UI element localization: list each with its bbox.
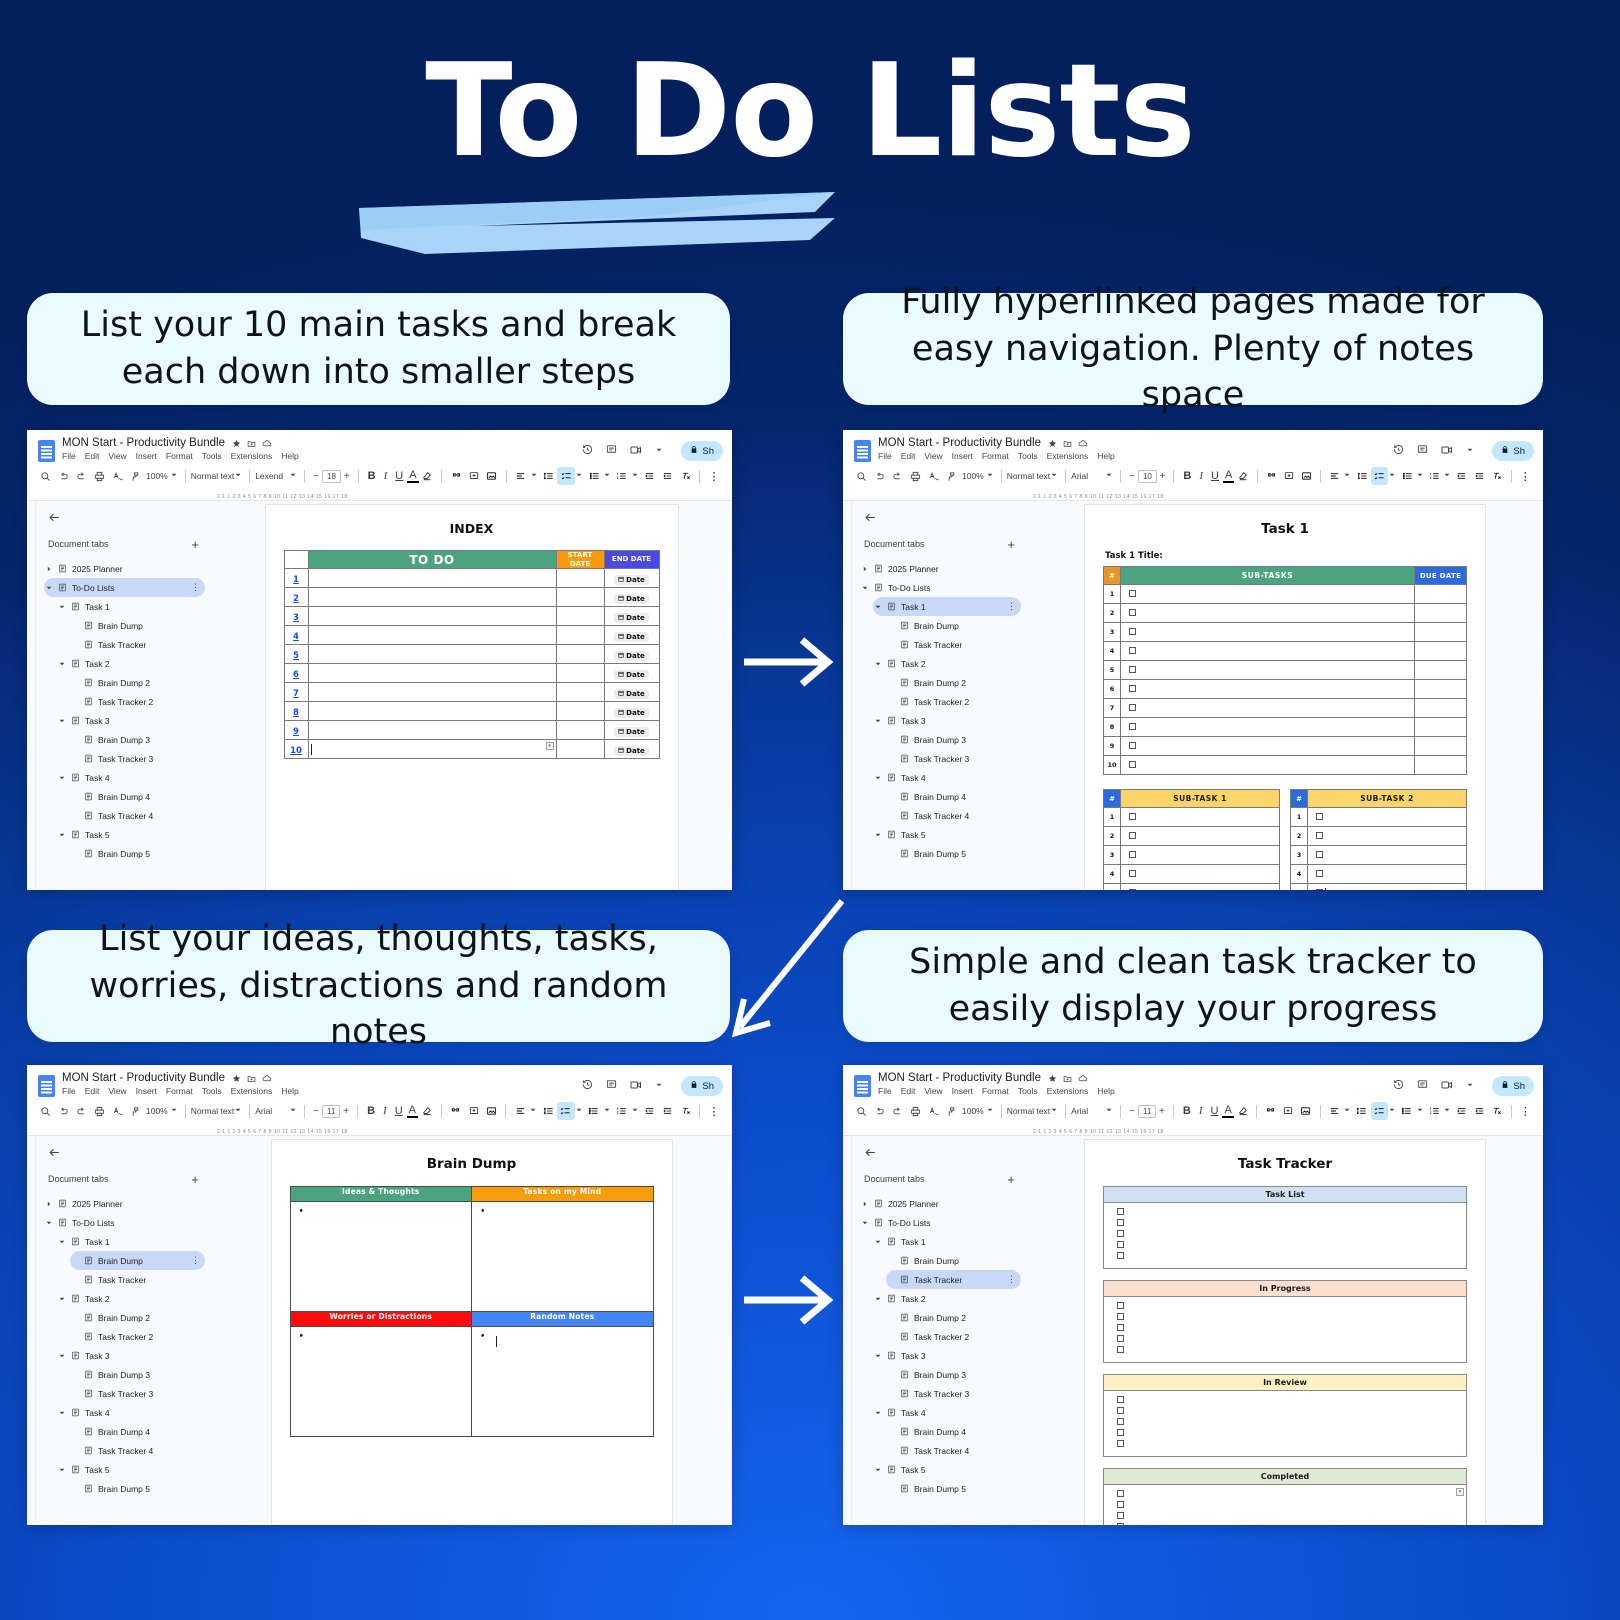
checkbox[interactable] (1117, 1501, 1124, 1508)
zoom-level[interactable]: 100% (144, 471, 170, 481)
document-tab-item[interactable]: Brain Dump 2 (70, 1308, 205, 1327)
subtask-table[interactable]: # SUB-TASK 2 1 2 3 4 5 (1290, 789, 1467, 890)
checkbox[interactable] (1117, 1407, 1124, 1414)
line-spacing-icon[interactable] (1353, 467, 1370, 485)
table-row[interactable]: 2 Date (284, 588, 659, 607)
insert-image-icon[interactable] (483, 1102, 501, 1120)
paragraph-style-select[interactable]: Normal text (1007, 1106, 1050, 1116)
checkbox[interactable] (1117, 1335, 1124, 1342)
checklist-icon[interactable] (1371, 1102, 1388, 1120)
version-history-icon[interactable] (582, 1077, 593, 1095)
increase-font-size-button[interactable]: + (340, 1106, 352, 1117)
redo-icon[interactable] (72, 467, 90, 485)
text-color-button[interactable]: A (407, 1105, 418, 1118)
subtask-cell[interactable] (1121, 756, 1415, 775)
clear-formatting-icon[interactable] (1488, 1102, 1505, 1120)
checkbox[interactable] (1129, 704, 1136, 711)
row-number-cell[interactable]: 7 (284, 683, 308, 702)
todo-cell[interactable] (308, 721, 556, 740)
chevron-right-icon[interactable] (44, 566, 53, 572)
underline-button[interactable]: U (391, 1105, 407, 1117)
menu-extensions[interactable]: Extensions (1047, 451, 1089, 461)
subtask-cell[interactable] (1308, 846, 1467, 865)
font-size-input[interactable]: 10 (1138, 470, 1157, 483)
checkbox[interactable] (1129, 851, 1136, 858)
paint-format-icon[interactable] (942, 1102, 960, 1120)
decrease-indent-icon[interactable] (641, 467, 659, 485)
menu-extensions[interactable]: Extensions (1047, 1086, 1089, 1096)
start-date-cell[interactable] (556, 683, 604, 702)
highlight-color-icon[interactable] (418, 1102, 436, 1120)
insert-link-icon[interactable] (447, 1102, 465, 1120)
menu-edit[interactable]: Edit (85, 1086, 100, 1096)
chevron-down-icon[interactable] (656, 447, 662, 455)
document-tab-item[interactable]: Task Tracker 4 (886, 806, 1021, 825)
chevron-down-icon[interactable] (290, 1107, 296, 1115)
clear-formatting-icon[interactable] (676, 1102, 694, 1120)
menu-view[interactable]: View (108, 451, 126, 461)
increase-indent-icon[interactable] (659, 467, 677, 485)
chevron-down-icon[interactable] (1444, 1107, 1450, 1115)
end-date-cell[interactable]: Date (604, 664, 659, 683)
document-tab-item[interactable]: Task 5 (57, 825, 205, 844)
due-date-cell[interactable] (1415, 585, 1467, 604)
menu-file[interactable]: File (62, 1086, 76, 1096)
subtask-cell[interactable] (1121, 642, 1415, 661)
chevron-down-icon[interactable] (873, 1296, 882, 1302)
document-tab-item[interactable]: Brain Dump ⋮ (70, 1251, 205, 1270)
tracker-section-body[interactable] (1104, 1391, 1466, 1456)
menu-file[interactable]: File (878, 451, 892, 461)
chevron-down-icon[interactable] (873, 661, 882, 667)
date-chip[interactable]: Date (614, 746, 649, 756)
insert-link-icon[interactable] (1262, 1102, 1279, 1120)
checkbox[interactable] (1117, 1346, 1124, 1353)
menu-help[interactable]: Help (1097, 1086, 1114, 1096)
checkbox[interactable] (1117, 1512, 1124, 1519)
row-number-cell[interactable]: 2 (284, 588, 308, 607)
more-options-icon[interactable]: ⋮ (1517, 1102, 1534, 1120)
subtask-cell[interactable] (1121, 865, 1280, 884)
subtask-cell[interactable] (1121, 808, 1280, 827)
italic-button[interactable]: I (1195, 1105, 1207, 1117)
checkbox[interactable] (1117, 1490, 1124, 1497)
document-tab-item[interactable]: Task 4 (873, 768, 1021, 787)
insert-image-icon[interactable] (1298, 467, 1315, 485)
document-tab-item[interactable]: Task Tracker (886, 635, 1021, 654)
checkbox[interactable] (1129, 628, 1136, 635)
zoom-level[interactable]: 100% (960, 1106, 986, 1116)
due-date-cell[interactable] (1415, 642, 1467, 661)
decrease-font-size-button[interactable]: − (1126, 471, 1138, 482)
table-row[interactable]: 3 (1104, 623, 1467, 642)
align-icon[interactable] (512, 467, 530, 485)
document-tab-item[interactable]: To-Do Lists ⋮ (44, 578, 205, 597)
underline-button[interactable]: U (391, 470, 407, 482)
document-tab-item[interactable]: Brain Dump 3 (886, 730, 1021, 749)
font-size-input[interactable]: 18 (322, 470, 341, 483)
chevron-down-icon[interactable] (57, 661, 66, 667)
menu-edit[interactable]: Edit (85, 451, 100, 461)
date-chip[interactable]: Date (614, 594, 649, 604)
menu-edit[interactable]: Edit (901, 1086, 916, 1096)
underline-button[interactable]: U (1207, 470, 1223, 482)
add-tab-button[interactable]: + (191, 1175, 199, 1184)
chevron-down-icon[interactable] (57, 1239, 66, 1245)
document-tab-item[interactable]: Brain Dump 2 (886, 673, 1021, 692)
document-page[interactable]: Task 1 Task 1 Title: # SUB-TASKS DUE DAT… (1085, 505, 1485, 890)
chevron-down-icon[interactable] (1389, 1107, 1395, 1115)
checkbox[interactable] (1117, 1208, 1124, 1215)
subtask-table-wrap[interactable]: # SUB-TASK 1 1 2 3 4 5 (1103, 789, 1280, 890)
chevron-down-icon[interactable] (235, 472, 241, 480)
table-row[interactable]: 2 (1291, 827, 1467, 846)
chevron-down-icon[interactable] (576, 472, 582, 480)
due-date-cell[interactable] (1415, 680, 1467, 699)
checkbox[interactable] (1316, 889, 1323, 890)
start-date-cell[interactable] (556, 664, 604, 683)
chevron-down-icon[interactable] (57, 1467, 66, 1473)
document-tab-item[interactable]: Task 4 (873, 1403, 1021, 1422)
screenshot-panel-index[interactable]: MON Start - Productivity Bundle FileEdit… (27, 430, 732, 890)
comment-icon[interactable] (1417, 442, 1428, 460)
document-tab-item[interactable]: Task Tracker 2 (886, 1327, 1021, 1346)
todo-cell[interactable] (308, 607, 556, 626)
chevron-down-icon[interactable] (604, 1107, 610, 1115)
numbered-list-icon[interactable] (1426, 1102, 1443, 1120)
todo-cell[interactable] (308, 645, 556, 664)
subtask-cell[interactable] (1121, 718, 1415, 737)
chevron-right-icon[interactable] (860, 566, 869, 572)
document-tab-item[interactable]: Task 1 (873, 1232, 1021, 1251)
document-tabs-sidebar[interactable]: Document tabs + 2025 Planner To-Do Lists… (36, 1136, 211, 1525)
quadrant-body[interactable] (472, 1327, 654, 1437)
chevron-down-icon[interactable] (873, 832, 882, 838)
table-row[interactable]: 5 (1291, 884, 1467, 891)
document-tab-item[interactable]: Task 3 (873, 711, 1021, 730)
horizontal-ruler[interactable]: 2 1 1 2 3 4 5 6 7 8 9 10 11 12 13 14 15 … (843, 488, 1543, 501)
tab-options-icon[interactable]: ⋮ (191, 584, 200, 591)
table-row[interactable]: 9 (1104, 737, 1467, 756)
add-tab-button[interactable]: + (1007, 540, 1015, 549)
insert-image-icon[interactable] (1297, 1102, 1314, 1120)
todo-cell[interactable] (308, 569, 556, 588)
document-tab-item[interactable]: Task Tracker 2 (886, 692, 1021, 711)
menu-insert[interactable]: Insert (136, 451, 157, 461)
chevron-down-icon[interactable] (656, 1082, 662, 1090)
document-title[interactable]: MON Start - Productivity Bundle (878, 437, 1041, 449)
document-tab-item[interactable]: Task 3 (57, 1346, 205, 1365)
document-tab-item[interactable]: Task Tracker 4 (70, 1441, 205, 1460)
checkbox[interactable] (1117, 1313, 1124, 1320)
chevron-down-icon[interactable] (1444, 472, 1450, 480)
end-date-cell[interactable]: Date (604, 721, 659, 740)
search-icon[interactable] (852, 1102, 870, 1120)
numbered-list-icon[interactable] (1426, 467, 1443, 485)
start-date-cell[interactable] (556, 588, 604, 607)
menu-help[interactable]: Help (1097, 451, 1114, 461)
highlight-color-icon[interactable] (1234, 467, 1251, 485)
chevron-down-icon[interactable] (987, 472, 993, 480)
undo-icon[interactable] (870, 467, 888, 485)
table-row[interactable]: 7 Date (284, 683, 659, 702)
decrease-font-size-button[interactable]: − (310, 1106, 322, 1117)
document-tab-item[interactable]: Task 1 (57, 597, 205, 616)
document-title[interactable]: MON Start - Productivity Bundle (878, 1072, 1041, 1084)
document-tab-item[interactable]: Brain Dump 4 (886, 1422, 1021, 1441)
text-color-button[interactable]: A (1222, 1105, 1233, 1118)
meet-icon[interactable] (630, 442, 642, 460)
checkbox[interactable] (1117, 1302, 1124, 1309)
increase-font-size-button[interactable]: + (1157, 471, 1169, 482)
document-tab-item[interactable]: Brain Dump 4 (70, 787, 205, 806)
document-tab-item[interactable]: Task 2 (873, 654, 1021, 673)
subtask-cell[interactable] (1121, 827, 1280, 846)
bulleted-list-icon[interactable] (1398, 467, 1415, 485)
document-tab-item[interactable]: Task Tracker (70, 635, 205, 654)
document-tab-item[interactable]: 2025 Planner (860, 559, 1021, 578)
chevron-down-icon[interactable] (171, 1107, 177, 1115)
row-number-cell[interactable]: 10 (284, 740, 308, 759)
date-chip[interactable]: Date (614, 689, 649, 699)
paint-format-icon[interactable] (942, 467, 960, 485)
print-icon[interactable] (906, 1102, 924, 1120)
document-tab-item[interactable]: Task 2 (57, 654, 205, 673)
table-row[interactable]: 3 Date (284, 607, 659, 626)
zoom-level[interactable]: 100% (960, 471, 986, 481)
checkbox[interactable] (1129, 889, 1136, 890)
tracker-section-body[interactable] (1104, 1203, 1466, 1268)
document-tab-item[interactable]: Brain Dump (886, 616, 1021, 635)
subtask-cell[interactable] (1121, 699, 1415, 718)
horizontal-ruler[interactable]: 2 1 1 2 3 4 5 6 7 8 9 10 11 12 13 14 15 … (843, 1123, 1543, 1136)
font-family-select[interactable]: Arial (1071, 471, 1105, 481)
row-number-cell[interactable]: 6 (284, 664, 308, 683)
chevron-down-icon[interactable] (873, 1467, 882, 1473)
subtask-cell[interactable] (1121, 604, 1415, 623)
star-icon[interactable] (1048, 439, 1057, 448)
add-tab-button[interactable]: + (191, 540, 199, 549)
menu-file[interactable]: File (878, 1086, 892, 1096)
subtask-cell[interactable] (1121, 623, 1415, 642)
table-row[interactable]: 1 (1104, 585, 1467, 604)
chevron-down-icon[interactable] (1467, 447, 1473, 455)
due-date-cell[interactable] (1415, 737, 1467, 756)
tracker-section[interactable]: Task List (1103, 1186, 1467, 1269)
paint-format-icon[interactable] (126, 467, 144, 485)
chevron-down-icon[interactable] (987, 1107, 993, 1115)
menu-format[interactable]: Format (982, 451, 1009, 461)
spelling-icon[interactable] (924, 467, 942, 485)
end-date-cell[interactable]: Date (604, 569, 659, 588)
end-date-cell[interactable]: Date (604, 588, 659, 607)
document-tab-item[interactable]: Task 1 (57, 1232, 205, 1251)
todo-cell[interactable] (308, 683, 556, 702)
document-tab-item[interactable]: Task 1 ⋮ (873, 597, 1021, 616)
numbered-list-icon[interactable] (613, 1102, 631, 1120)
menu-view[interactable]: View (924, 1086, 942, 1096)
row-number-cell[interactable]: 4 (284, 626, 308, 645)
todo-cell[interactable] (308, 626, 556, 645)
highlight-color-icon[interactable] (1234, 1102, 1251, 1120)
undo-icon[interactable] (54, 467, 72, 485)
document-tabs-sidebar[interactable]: Document tabs + 2025 Planner To-Do Lists… (36, 501, 211, 890)
decrease-indent-icon[interactable] (1453, 467, 1470, 485)
due-date-cell[interactable] (1415, 756, 1467, 775)
document-canvas[interactable]: Brain Dump Ideas & Thoughts Tasks on my … (211, 1136, 732, 1525)
clear-formatting-icon[interactable] (676, 467, 694, 485)
checkbox[interactable] (1129, 723, 1136, 730)
checkbox[interactable] (1129, 666, 1136, 673)
document-tab-item[interactable]: Brain Dump (70, 616, 205, 635)
document-tab-item[interactable]: 2025 Planner (44, 559, 205, 578)
chevron-down-icon[interactable] (1106, 1107, 1112, 1115)
screenshot-panel-task-tracker[interactable]: MON Start - Productivity Bundle FileEdit… (843, 1065, 1543, 1525)
star-icon[interactable] (232, 439, 241, 448)
document-tab-item[interactable]: To-Do Lists (44, 1213, 205, 1232)
todo-cell[interactable] (308, 664, 556, 683)
checkbox[interactable] (1129, 609, 1136, 616)
table-row[interactable]: 5 (1104, 661, 1467, 680)
checkbox[interactable] (1129, 742, 1136, 749)
increase-indent-icon[interactable] (1471, 1102, 1488, 1120)
table-row[interactable]: 2 (1104, 604, 1467, 623)
start-date-cell[interactable] (556, 702, 604, 721)
menu-insert[interactable]: Insert (952, 451, 973, 461)
move-to-folder-icon[interactable] (1063, 1074, 1072, 1083)
date-chip[interactable]: Date (614, 632, 649, 642)
bulleted-list-icon[interactable] (1398, 1102, 1415, 1120)
table-row[interactable]: 4 (1291, 865, 1467, 884)
chevron-down-icon[interactable] (235, 1107, 241, 1115)
chevron-down-icon[interactable] (1467, 1082, 1473, 1090)
line-spacing-icon[interactable] (539, 1102, 557, 1120)
more-options-icon[interactable]: ⋮ (705, 1102, 723, 1120)
increase-font-size-button[interactable]: + (341, 471, 353, 482)
document-tab-item[interactable]: Task Tracker 2 (70, 692, 205, 711)
brain-dump-table[interactable]: Ideas & Thoughts Tasks on my Mind Worrie… (290, 1186, 654, 1437)
document-tab-item[interactable]: Brain Dump 4 (70, 1422, 205, 1441)
horizontal-ruler[interactable]: 2 1 1 2 3 4 5 6 7 8 9 10 11 12 13 14 15 … (27, 1123, 732, 1136)
checkbox[interactable] (1129, 761, 1136, 768)
document-tab-item[interactable]: 2025 Planner (860, 1194, 1021, 1213)
version-history-icon[interactable] (582, 442, 593, 460)
chevron-down-icon[interactable] (576, 1107, 582, 1115)
chevron-down-icon[interactable] (604, 472, 610, 480)
paragraph-style-select[interactable]: Normal text (191, 471, 234, 481)
bold-button[interactable]: B (363, 1105, 379, 1117)
document-tab-item[interactable]: Task 2 (873, 1289, 1021, 1308)
document-tab-item[interactable]: Brain Dump 3 (886, 1365, 1021, 1384)
insert-link-icon[interactable] (447, 467, 465, 485)
document-tab-item[interactable]: To-Do Lists (860, 1213, 1021, 1232)
chevron-down-icon[interactable] (57, 832, 66, 838)
align-icon[interactable] (511, 1102, 529, 1120)
menu-bar[interactable]: FileEditViewInsertFormatToolsExtensionsH… (878, 1086, 1393, 1096)
document-tab-item[interactable]: Task 5 (57, 1460, 205, 1479)
quadrant-body[interactable] (290, 1202, 472, 1312)
document-tab-item[interactable]: Task 4 (57, 1403, 205, 1422)
menu-tools[interactable]: Tools (1018, 1086, 1038, 1096)
row-number-cell[interactable]: 5 (284, 645, 308, 664)
version-history-icon[interactable] (1393, 1077, 1404, 1095)
end-date-cell[interactable]: Date (604, 626, 659, 645)
spelling-icon[interactable] (108, 1102, 126, 1120)
menu-extensions[interactable]: Extensions (231, 1086, 273, 1096)
search-icon[interactable] (36, 467, 54, 485)
subtask-cell[interactable] (1308, 808, 1467, 827)
screenshot-panel-brain-dump[interactable]: MON Start - Productivity Bundle FileEdit… (27, 1065, 732, 1525)
bold-button[interactable]: B (1179, 470, 1195, 482)
subtask-cell[interactable] (1121, 884, 1280, 891)
chevron-down-icon[interactable] (57, 718, 66, 724)
document-tab-item[interactable]: Task Tracker 3 (886, 749, 1021, 768)
table-row[interactable]: 1 (1291, 808, 1467, 827)
menu-view[interactable]: View (108, 1086, 126, 1096)
spelling-icon[interactable] (108, 467, 126, 485)
paint-format-icon[interactable] (126, 1102, 144, 1120)
row-number-cell[interactable]: 1 (284, 569, 308, 588)
due-date-cell[interactable] (1415, 661, 1467, 680)
redo-icon[interactable] (72, 1102, 90, 1120)
print-icon[interactable] (906, 467, 924, 485)
end-date-cell[interactable]: Date (604, 702, 659, 721)
document-tab-item[interactable]: Task Tracker 3 (70, 1384, 205, 1403)
chevron-right-icon[interactable] (44, 1201, 53, 1207)
document-canvas[interactable]: INDEX TO DO START DATE END DATE 1 Date 2 (211, 501, 732, 890)
chevron-down-icon[interactable] (1344, 472, 1350, 480)
document-tab-item[interactable]: Task Tracker (70, 1270, 205, 1289)
zoom-level[interactable]: 100% (144, 1106, 170, 1116)
chevron-down-icon[interactable] (1051, 1107, 1057, 1115)
decrease-indent-icon[interactable] (1453, 1102, 1470, 1120)
horizontal-ruler[interactable]: 2 1 1 2 3 4 5 6 7 8 9 10 11 12 13 14 15 … (27, 488, 732, 501)
due-date-cell[interactable] (1415, 623, 1467, 642)
menu-tools[interactable]: Tools (1018, 451, 1038, 461)
checkbox[interactable] (1117, 1252, 1124, 1259)
menu-format[interactable]: Format (982, 1086, 1009, 1096)
table-row[interactable]: 4 (1104, 642, 1467, 661)
line-spacing-icon[interactable] (540, 467, 558, 485)
checkbox[interactable] (1129, 647, 1136, 654)
checkbox[interactable] (1129, 590, 1136, 597)
menu-edit[interactable]: Edit (901, 451, 916, 461)
date-chip[interactable]: Date (614, 708, 649, 718)
add-comment-icon[interactable] (465, 1102, 483, 1120)
chevron-down-icon[interactable] (57, 1353, 66, 1359)
numbered-list-icon[interactable] (613, 467, 631, 485)
table-row[interactable]: 4 (1104, 865, 1280, 884)
document-tab-item[interactable]: Brain Dump 3 (70, 730, 205, 749)
document-tab-item[interactable]: Brain Dump 3 (70, 1365, 205, 1384)
clear-formatting-icon[interactable] (1488, 467, 1505, 485)
decrease-font-size-button[interactable]: − (1126, 1106, 1138, 1117)
table-row[interactable]: 6 Date (284, 664, 659, 683)
table-row[interactable]: 5 Date (284, 645, 659, 664)
document-tabs-sidebar[interactable]: Document tabs + 2025 Planner To-Do Lists… (852, 501, 1027, 890)
chevron-down-icon[interactable] (873, 1353, 882, 1359)
checkbox[interactable] (1117, 1523, 1124, 1525)
document-page[interactable]: Task Tracker Task List In Progress In Re… (1085, 1140, 1485, 1525)
share-button[interactable]: Sh (681, 1076, 723, 1096)
bulleted-list-icon[interactable] (585, 1102, 603, 1120)
quadrant-body[interactable] (472, 1202, 654, 1312)
document-tab-item[interactable]: Brain Dump 2 (70, 673, 205, 692)
table-row[interactable]: 8 (1104, 718, 1467, 737)
font-size-input[interactable]: 11 (322, 1105, 340, 1118)
italic-button[interactable]: I (379, 1105, 391, 1117)
table-row[interactable]: 10 (1104, 756, 1467, 775)
